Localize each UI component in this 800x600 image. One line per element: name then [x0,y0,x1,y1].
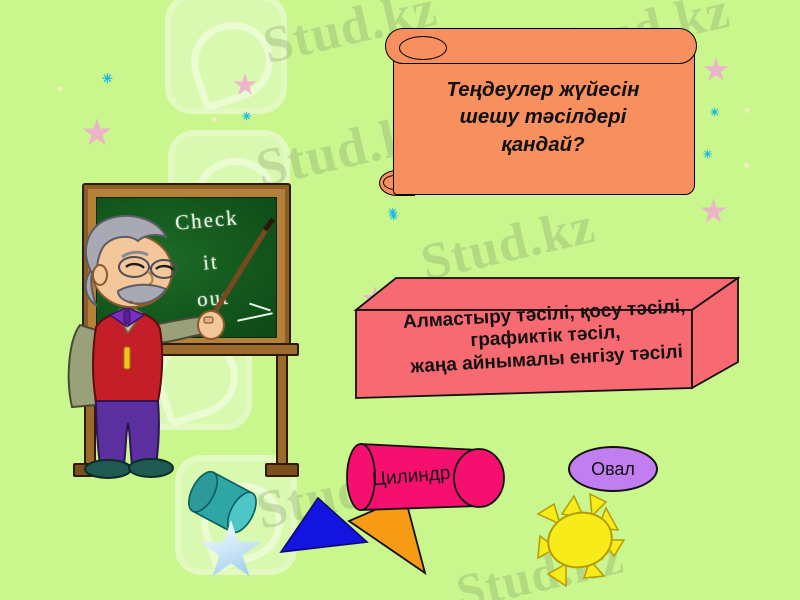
blue-star-shape [199,520,263,582]
question-line-2: шешу тәсілдері [399,103,687,130]
oval-label: Овал [591,459,635,480]
pointer-stick-icon [208,223,270,323]
dot-decoration [744,163,749,168]
purple-oval-shape: Овал [568,446,658,492]
yellow-sun-shape [532,492,642,592]
scroll-top-curl [399,36,447,60]
watermark-badge [165,0,287,114]
answer-3d-box: Алмастыру тәсілі, қосу тәсілі, графиктік… [352,276,740,402]
teacher-shoe [85,460,131,478]
blackboard-scene: Check it out [60,175,310,485]
question-line-1: Теңдеулер жүйесін [399,76,687,103]
pink-star-decoration [82,118,112,148]
teacher-vest-stripe [124,347,130,369]
teacher-pants [96,401,159,465]
question-line-3: қандай? [399,131,687,158]
sparkle-icon: ✳ [710,108,719,119]
dot-decoration [745,108,750,113]
sparkle-icon: ✳ [389,212,398,223]
pink-star-decoration [233,73,257,97]
sparkle-icon: ✳ [102,72,113,85]
teacher-mustache [118,285,166,304]
dot-decoration [57,86,62,91]
teacher-character [60,175,310,485]
sparkle-icon: ✳ [703,150,712,161]
teacher-shoe [129,459,173,477]
teacher-hand [198,311,224,339]
sparkle-icon: ✳ [242,112,251,123]
pink-star-decoration [700,198,727,225]
question-scroll: Теңдеулер жүйесін шешу тәсілдері қандай? [385,28,695,193]
pink-star-decoration [703,57,729,83]
dot-decoration [212,117,217,122]
slide-canvas: Stud.kz Stud.kz Stud.kz Stud.kz Stud.kz … [0,0,800,600]
question-text: Теңдеулер жүйесін шешу тәсілдері қандай? [399,76,687,158]
